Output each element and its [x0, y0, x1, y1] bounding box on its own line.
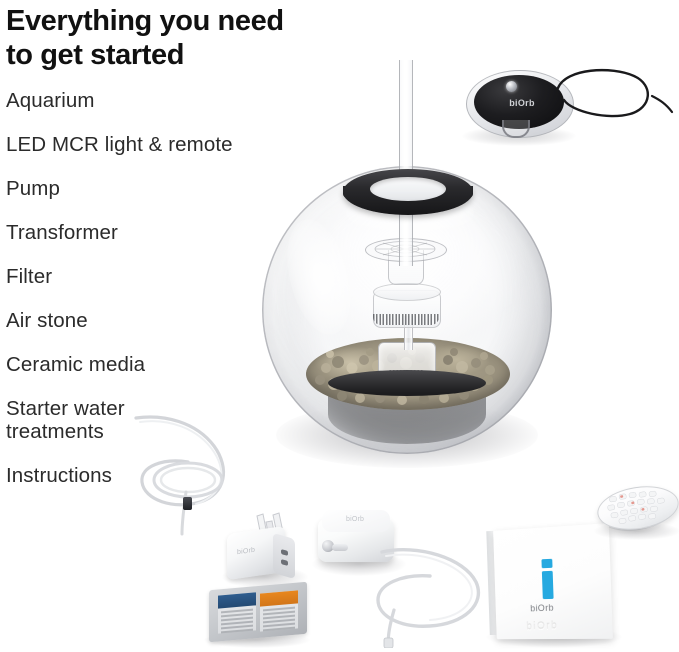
filter-cartridge-band — [373, 314, 439, 325]
copy-column: Everything you need to get started Aquar… — [6, 0, 326, 509]
list-item: Pump — [6, 178, 326, 201]
booklet-info-icon — [541, 559, 554, 599]
instruction-booklet: biOrb biOrb — [492, 527, 620, 645]
list-item: Air stone — [6, 310, 326, 333]
transformer-face — [273, 533, 295, 579]
sachet-orange-text — [263, 607, 295, 634]
transformer-plug: biOrb — [225, 512, 303, 582]
list-item: Aquarium — [6, 90, 326, 113]
led-brand-label: biOrb — [494, 98, 550, 108]
info-icon-stem — [542, 571, 554, 599]
list-item: Instructions — [6, 465, 326, 488]
led-power-cable — [556, 66, 674, 122]
led-emitter-icon — [506, 81, 517, 92]
list-item: Transformer — [6, 222, 326, 245]
list-item: Starter water treatments — [6, 398, 326, 444]
page-title: Everything you need to get started — [6, 0, 326, 72]
booklet-emboss-label: biOrb — [526, 620, 558, 632]
booklet-brand-label: biOrb — [530, 603, 554, 614]
central-clear-tube — [399, 60, 413, 266]
aquarium-lid-aperture — [370, 177, 446, 201]
airline-tube-loop — [368, 548, 488, 648]
list-item: Ceramic media — [6, 354, 326, 377]
aquarium-base-rim — [328, 370, 486, 396]
list-item: Filter — [6, 266, 326, 289]
list-item: LED MCR light & remote — [6, 134, 326, 157]
air-pump-brand-label: biOrb — [346, 516, 364, 523]
remote-button-grid — [594, 481, 679, 533]
sachet-blue-text — [221, 609, 253, 636]
included-items-list: Aquarium LED MCR light & remote Pump Tra… — [6, 90, 326, 488]
filter-cartridge-top — [373, 283, 441, 301]
water-treatment-sachets — [209, 586, 307, 642]
remote-control — [597, 487, 677, 537]
air-pump-outlet — [332, 544, 348, 551]
info-icon-dot — [541, 559, 552, 568]
